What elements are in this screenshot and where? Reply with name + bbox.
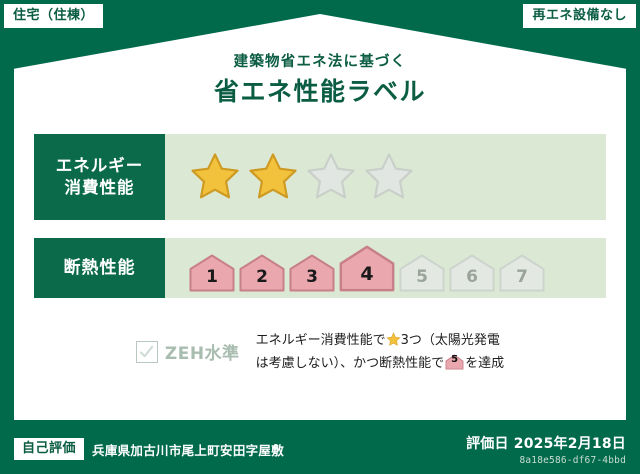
document-id: 8a18e586-df67-4bbd [466,455,626,466]
zeh-desc-star-count: 3つ（太陽光発電 [401,333,500,348]
energy-performance-label: 住宅（住棟） 再エネ設備なし 建築物省エネ法に基づく 省エネ性能ラベル エネルギ… [0,0,640,474]
title-block: 建築物省エネ法に基づく 省エネ性能ラベル [0,54,640,107]
badge-renewable-equipment: 再エネ設備なし [523,4,636,28]
zeh-desc-text-a: エネルギー消費性能で [256,333,386,348]
star-rating [189,151,415,203]
insulation-grade-number: 3 [306,269,318,292]
page-title: 省エネ性能ラベル [0,77,640,107]
zeh-desc-text-b: は考慮しない）、かつ断熱性能で [256,356,445,371]
zeh-standard-label: ZEH水準 [165,339,240,364]
title-subtitle: 建築物省エネ法に基づく [0,54,640,71]
star-icon-empty [305,151,357,203]
insulation-grade-5: 5 [399,254,445,292]
footer-right: 評価日 2025年2月18日 8a18e586-df67-4bbd [466,433,626,466]
insulation-grade-number: 2 [256,269,268,292]
insulation-grade-7: 7 [499,254,545,292]
evaluation-date-label: 評価日 [466,436,509,452]
star-icon-empty [363,151,415,203]
zeh-note-block: ZEH水準 エネルギー消費性能で3つ（太陽光発電 は考慮しない）、かつ断熱性能で… [0,330,640,376]
badge-dwelling-type: 住宅（住棟） [4,4,103,28]
checkbox-icon [136,341,158,363]
insulation-grade-3: 3 [289,254,335,292]
star-icon [386,332,401,347]
insulation-grade-number: 6 [466,269,478,292]
insulation-performance-label: 断熱性能 [34,238,165,298]
star-icon-filled [247,151,299,203]
evaluation-date-value: 2025年2月18日 [514,436,626,452]
zeh-description-line2: は考慮しない）、かつ断熱性能で5を達成 [256,353,505,376]
badge-self-evaluation: 自己評価 [14,438,84,460]
insulation-performance-row: 断熱性能 1234567 [34,238,606,298]
insulation-grade-4: 4 [339,245,395,292]
zeh-description: エネルギー消費性能で3つ（太陽光発電 は考慮しない）、かつ断熱性能で5を達成 [256,330,505,376]
star-icon-filled [189,151,241,203]
energy-label-line1: エネルギー [56,155,144,177]
insulation-grade-number: 1 [206,269,218,292]
insulation-grade-number: 7 [516,269,528,292]
insulation-performance-value: 1234567 [165,238,606,298]
zeh-description-line1: エネルギー消費性能で3つ（太陽光発電 [256,330,505,353]
footer: 自己評価 兵庫県加古川市尾上町安田字屋敷 評価日 2025年2月18日 8a18… [0,420,640,474]
insulation-grade-number: 5 [416,269,428,292]
energy-performance-row: エネルギー 消費性能 [34,134,606,220]
insulation-grade-number: 4 [360,265,373,292]
zeh-desc-text-c: を達成 [465,356,504,371]
insulation-grade-1: 1 [189,254,235,292]
energy-performance-value [165,134,606,220]
house-grade-icon-number: 5 [445,354,464,370]
energy-label-line2: 消費性能 [65,177,135,199]
insulation-grade-scale: 1234567 [189,245,545,292]
house-grade-icon: 5 [445,354,464,370]
insulation-grade-6: 6 [449,254,495,292]
energy-performance-label: エネルギー 消費性能 [34,134,165,220]
evaluation-date: 評価日 2025年2月18日 [466,433,626,453]
footer-left: 自己評価 兵庫県加古川市尾上町安田字屋敷 [14,438,284,460]
property-address: 兵庫県加古川市尾上町安田字屋敷 [92,440,284,459]
zeh-standard-tag: ZEH水準 [136,330,240,364]
insulation-grade-2: 2 [239,254,285,292]
